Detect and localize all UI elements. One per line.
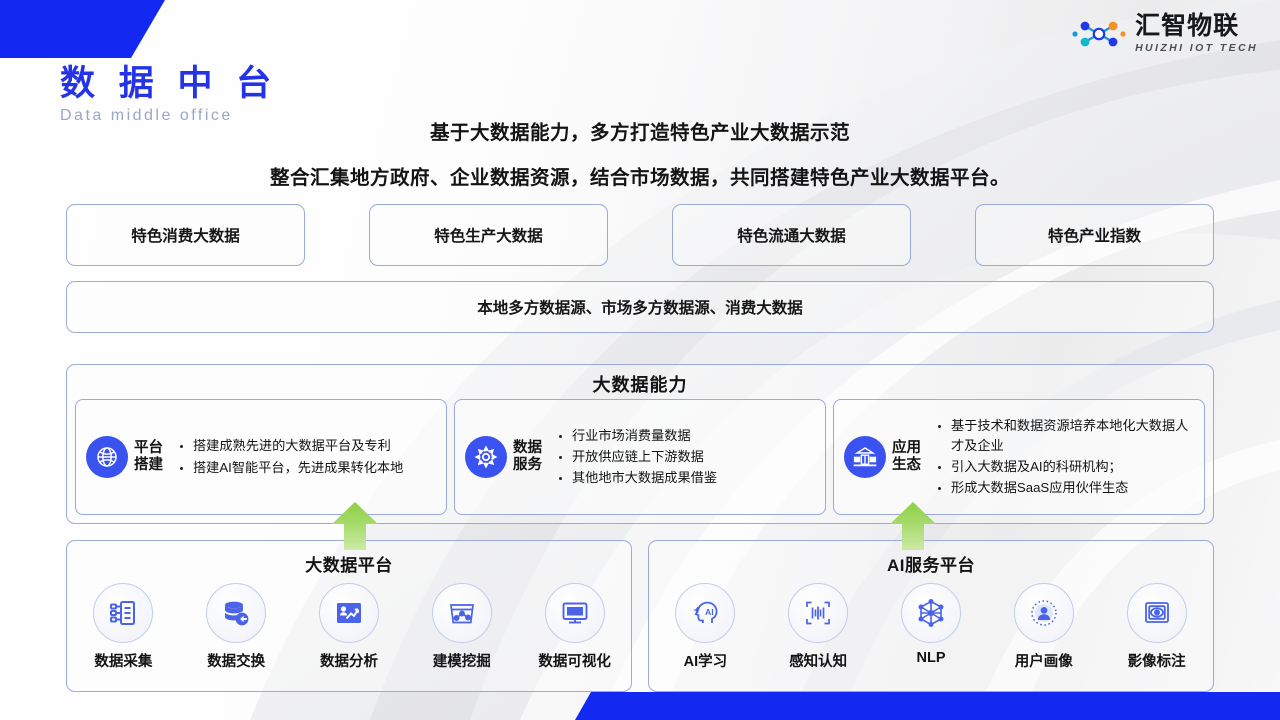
perception-scan-icon — [788, 583, 848, 643]
user-profile-icon — [1014, 583, 1074, 643]
tile-image-annotation-label: 影像标注 — [1128, 650, 1186, 671]
image-annotation-icon — [1127, 583, 1187, 643]
ai-service-platform-tiles: AI AI学习 感知认知 — [649, 583, 1213, 671]
ai-head-icon: AI — [675, 583, 735, 643]
list-item: 形成大数据SaaS应用伙伴生态 — [934, 478, 1198, 498]
tile-data-exchange[interactable]: 数据交换 — [186, 583, 286, 671]
tile-perception[interactable]: 感知认知 — [768, 583, 868, 671]
headline-line-1: 基于大数据能力，多方打造特色产业大数据示范 — [0, 116, 1280, 145]
capability-card-app-ecosystem-label: 应用 生态 — [892, 440, 924, 473]
capability-card-data-service-label: 数据 服务 — [513, 440, 545, 473]
capability-card-platform-label: 平台 搭建 — [134, 440, 166, 473]
gear-icon — [465, 436, 507, 478]
list-item: 行业市场消费量数据 — [555, 426, 819, 446]
globe-icon — [86, 436, 128, 478]
page-title-cn: 数 据 中 台 — [60, 66, 278, 103]
up-arrow-icon — [886, 500, 940, 552]
capability-card-app-ecosystem-bullets: 基于技术和数据资源培养本地化大数据人才及企业 引入大数据及AI的科研机构； 形成… — [930, 415, 1198, 499]
institution-icon — [844, 436, 886, 478]
tile-nlp-label: NLP — [916, 650, 945, 666]
tile-image-annotation[interactable]: 影像标注 — [1107, 583, 1207, 671]
top-boxes-row: 特色消费大数据 特色生产大数据 特色流通大数据 特色产业指数 — [66, 204, 1214, 266]
tile-data-mining-label: 建模挖掘 — [433, 650, 491, 671]
headline-line-2: 整合汇集地方政府、企业数据资源，结合市场数据，共同搭建特色产业大数据平台。 — [0, 161, 1280, 190]
tile-user-profile[interactable]: 用户画像 — [994, 583, 1094, 671]
tile-data-collect[interactable]: 数据采集 — [73, 583, 173, 671]
slide-root: 数 据 中 台 Data middle office 汇智物联 HUIZHI I… — [0, 0, 1280, 720]
list-item: 基于技术和数据资源培养本地化大数据人才及企业 — [934, 416, 1198, 456]
top-box-consumption[interactable]: 特色消费大数据 — [66, 204, 305, 266]
capability-card-platform-bullets: 搭建成熟先进的大数据平台及专利 搭建AI智能平台，先进成果转化本地 — [172, 435, 440, 478]
capability-card-data-service-bullets: 行业市场消费量数据 开放供应链上下游数据 其他地市大数据成果借鉴 — [551, 425, 819, 489]
top-box-circulation[interactable]: 特色流通大数据 — [672, 204, 911, 266]
data-analysis-icon — [319, 583, 379, 643]
top-box-industry-index[interactable]: 特色产业指数 — [975, 204, 1214, 266]
brand-logo: 汇智物联 HUIZHI IOT TECH — [1071, 14, 1258, 54]
data-visualization-icon — [545, 583, 605, 643]
panel-big-data-platform-title: 大数据平台 — [67, 551, 631, 576]
label-line-1: 应用 — [892, 440, 921, 456]
brand-logo-text: 汇智物联 HUIZHI IOT TECH — [1135, 14, 1258, 54]
top-box-production[interactable]: 特色生产大数据 — [369, 204, 608, 266]
label-line-2: 生态 — [892, 457, 921, 473]
tile-data-analysis-label: 数据分析 — [320, 650, 378, 671]
tile-perception-label: 感知认知 — [789, 650, 847, 671]
tile-data-collect-label: 数据采集 — [94, 650, 152, 671]
data-mining-icon — [432, 583, 492, 643]
brand-name-en: HUIZHI IOT TECH — [1135, 43, 1258, 54]
list-item: 开放供应链上下游数据 — [555, 447, 819, 467]
big-data-platform-tiles: 数据采集 数据交换 — [67, 583, 631, 671]
brand-name-cn: 汇智物联 — [1135, 14, 1258, 39]
capability-card-app-ecosystem[interactable]: 应用 生态 基于技术和数据资源培养本地化大数据人才及企业 引入大数据及AI的科研… — [833, 399, 1205, 515]
tile-user-profile-label: 用户画像 — [1015, 650, 1073, 671]
list-item: 搭建成熟先进的大数据平台及专利 — [176, 436, 440, 456]
label-line-1: 数据 — [513, 440, 542, 456]
tile-ai-learning[interactable]: AI AI学习 — [655, 583, 755, 671]
capability-cards: 平台 搭建 搭建成熟先进的大数据平台及专利 搭建AI智能平台，先进成果转化本地 — [75, 399, 1205, 515]
data-exchange-icon — [206, 583, 266, 643]
capability-card-data-service[interactable]: 数据 服务 行业市场消费量数据 开放供应链上下游数据 其他地市大数据成果借鉴 — [454, 399, 826, 515]
up-arrow-icon — [328, 500, 382, 552]
panel-big-data-platform: 大数据平台 数据采 — [66, 540, 632, 692]
capability-card-platform[interactable]: 平台 搭建 搭建成熟先进的大数据平台及专利 搭建AI智能平台，先进成果转化本地 — [75, 399, 447, 515]
tile-data-visualization-label: 数据可视化 — [538, 650, 611, 671]
molecule-network-icon — [1071, 14, 1127, 54]
capability-section: 大数据能力 平台 搭建 搭建成熟先进 — [66, 364, 1214, 524]
label-line-2: 搭建 — [134, 457, 163, 473]
data-collect-icon — [93, 583, 153, 643]
label-line-2: 服务 — [513, 457, 542, 473]
tile-data-visualization[interactable]: 数据可视化 — [525, 583, 625, 671]
panel-ai-service-platform: AI服务平台 AI AI学习 — [648, 540, 1214, 692]
list-item: 其他地市大数据成果借鉴 — [555, 468, 819, 488]
panel-ai-service-platform-title: AI服务平台 — [649, 551, 1213, 576]
nlp-network-icon — [901, 583, 961, 643]
capability-section-title: 大数据能力 — [67, 371, 1213, 397]
label-line-1: 平台 — [134, 440, 163, 456]
headline-group: 基于大数据能力，多方打造特色产业大数据示范 整合汇集地方政府、企业数据资源，结合… — [0, 116, 1280, 190]
tile-data-analysis[interactable]: 数据分析 — [299, 583, 399, 671]
tile-data-mining[interactable]: 建模挖掘 — [412, 583, 512, 671]
list-item: 引入大数据及AI的科研机构； — [934, 457, 1198, 477]
tile-data-exchange-label: 数据交换 — [207, 650, 265, 671]
list-item: 搭建AI智能平台，先进成果转化本地 — [176, 458, 440, 478]
svg-text:AI: AI — [705, 607, 714, 617]
tile-ai-learning-label: AI学习 — [684, 650, 728, 671]
data-source-band[interactable]: 本地多方数据源、市场多方数据源、消费大数据 — [66, 281, 1214, 333]
tile-nlp[interactable]: NLP — [881, 583, 981, 666]
